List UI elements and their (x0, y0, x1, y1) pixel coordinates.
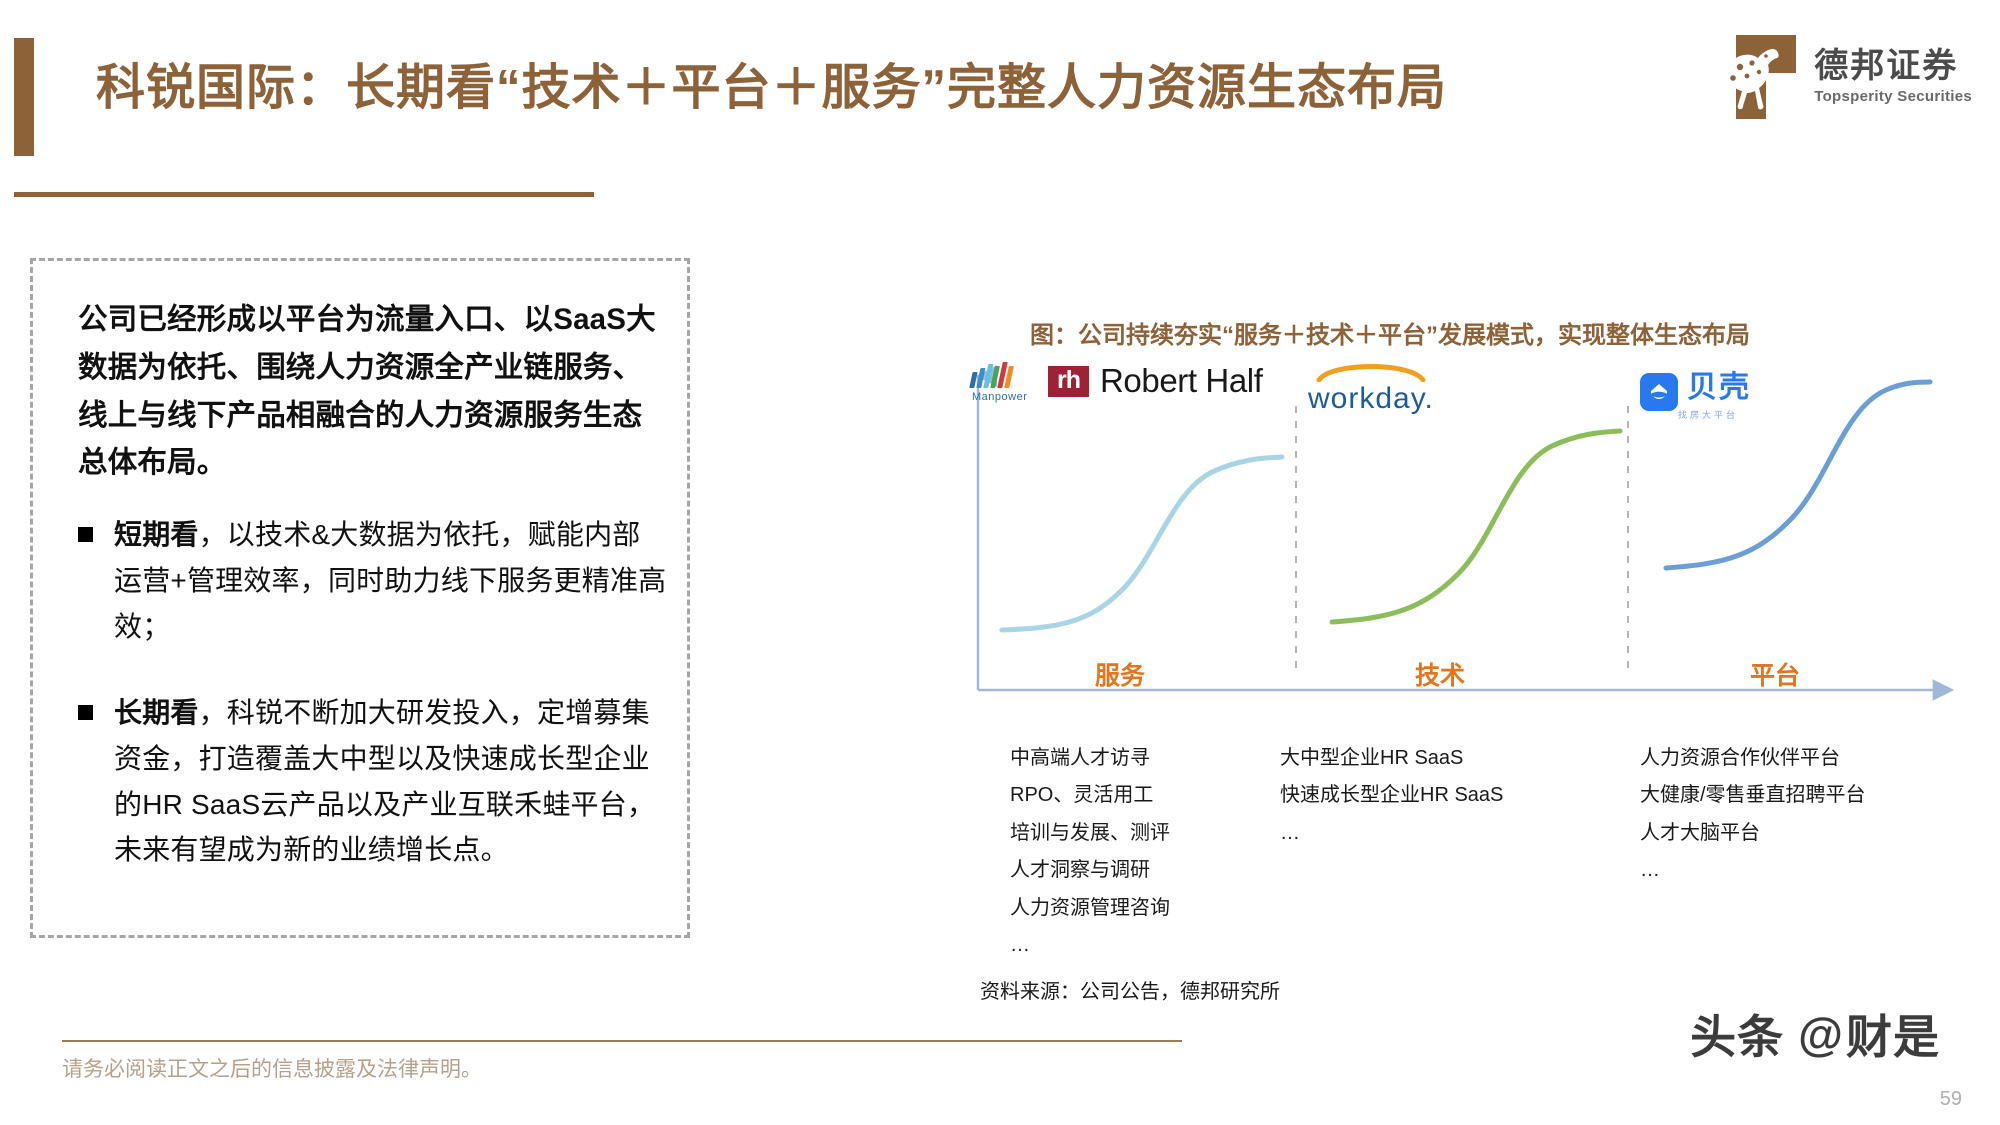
logo-text-block: 德邦证券 Topsperity Securities (1814, 49, 1972, 104)
bullet-square-icon (78, 527, 93, 542)
beike-shell-icon (1640, 373, 1678, 411)
list-item: RPO、灵活用工 (1010, 779, 1170, 811)
list-item: 人力资源合作伙伴平台 (1640, 742, 1866, 774)
brand-manpower: Manpower (972, 362, 1027, 403)
segment-items-platform: 人力资源合作伙伴平台 大健康/零售垂直招聘平台 人才大脑平台 … (1640, 742, 1866, 892)
bullet-lead: 短期看 (114, 519, 199, 550)
list-item: 人力资源管理咨询 (1010, 892, 1170, 924)
brand-robert-half: rh Robert Half (1048, 362, 1263, 400)
segment-label-service: 服务 (1095, 656, 1145, 692)
workday-arc-icon (1311, 360, 1431, 382)
list-item: … (1280, 817, 1503, 849)
topsperity-leopard-logo-icon (1710, 33, 1798, 121)
beike-subtitle: 找房大平台 (1678, 408, 1751, 421)
list-item: … (1640, 854, 1866, 886)
brand-logo: 德邦证券 Topsperity Securities (1710, 33, 1972, 121)
bullet-text: 短期看，以技术&大数据为依托，赋能内部运营+管理效率，同时助力线下服务更精准高效… (114, 512, 668, 650)
bullet-text: 长期看，科锐不断加大研发投入，定增募集资金，打造覆盖大中型以及快速成长型企业的H… (114, 690, 668, 874)
segment-items-service: 中高端人才访寻 RPO、灵活用工 培训与发展、测评 人才洞察与调研 人力资源管理… (1010, 742, 1170, 966)
chart-title: 图：公司持续夯实“服务＋技术＋平台”发展模式，实现整体生态布局 (1030, 315, 1750, 350)
page-title: 科锐国际：长期看“技术＋平台＋服务”完整人力资源生态布局 (96, 48, 1447, 119)
footer-divider (62, 1040, 1182, 1042)
robert-half-wordmark: Robert Half (1100, 362, 1263, 400)
bullet-square-icon (78, 705, 93, 720)
title-accent-bar (14, 38, 34, 156)
brand-workday: workday. (1308, 360, 1434, 416)
list-item: … (1010, 929, 1170, 961)
watermark-at-icon: @ (1798, 1007, 1844, 1061)
slide-root: 科锐国际：长期看“技术＋平台＋服务”完整人力资源生态布局 德邦证券 Topspe… (0, 0, 2000, 1125)
page-number: 59 (1940, 1088, 1962, 1111)
segment-label-technology: 技术 (1415, 656, 1465, 692)
lead-paragraph: 公司已经形成以平台为流量入口、以SaaS大数据为依托、围绕人力资源全产业链服务、… (78, 296, 658, 487)
list-item: 快速成长型企业HR SaaS (1280, 779, 1503, 811)
list-item: 人才大脑平台 (1640, 817, 1866, 849)
list-item: 中高端人才访寻 (1010, 742, 1170, 774)
logo-chinese-name: 德邦证券 (1814, 49, 1972, 85)
list-item: 短期看，以技术&大数据为依托，赋能内部运营+管理效率，同时助力线下服务更精准高效… (78, 512, 668, 650)
source-note: 资料来源：公司公告，德邦研究所 (980, 975, 1280, 1004)
robert-half-mark-icon: rh (1048, 366, 1089, 397)
workday-wordmark: workday. (1308, 382, 1434, 416)
list-item: 大中型企业HR SaaS (1280, 742, 1503, 774)
watermark-brand: 头条 (1690, 1001, 1784, 1067)
list-item: 大健康/零售垂直招聘平台 (1640, 779, 1866, 811)
segment-label-platform: 平台 (1750, 656, 1800, 692)
title-underline (14, 192, 594, 197)
manpower-wordmark: Manpower (972, 391, 1027, 403)
footer-disclaimer: 请务必阅读正文之后的信息披露及法律声明。 (62, 1053, 482, 1083)
beike-wordmark: 贝壳 (1687, 362, 1751, 406)
logo-english-name: Topsperity Securities (1814, 89, 1972, 105)
manpower-bars-icon (969, 362, 1015, 388)
segment-items-technology: 大中型企业HR SaaS 快速成长型企业HR SaaS … (1280, 742, 1503, 854)
bullet-list: 短期看，以技术&大数据为依托，赋能内部运营+管理效率，同时助力线下服务更精准高效… (78, 512, 668, 913)
list-item: 人才洞察与调研 (1010, 854, 1170, 886)
watermark: 头条 @ 财是 (1690, 1001, 1940, 1067)
list-item: 长期看，科锐不断加大研发投入，定增募集资金，打造覆盖大中型以及快速成长型企业的H… (78, 690, 668, 874)
list-item: 培训与发展、测评 (1010, 817, 1170, 849)
brand-beike: 贝壳 找房大平台 (1640, 362, 1751, 421)
ecosystem-chart: Manpower rh Robert Half workday. 贝壳 找房大平… (960, 360, 1960, 705)
watermark-account: 财是 (1846, 1001, 1940, 1067)
bullet-lead: 长期看 (114, 697, 199, 728)
